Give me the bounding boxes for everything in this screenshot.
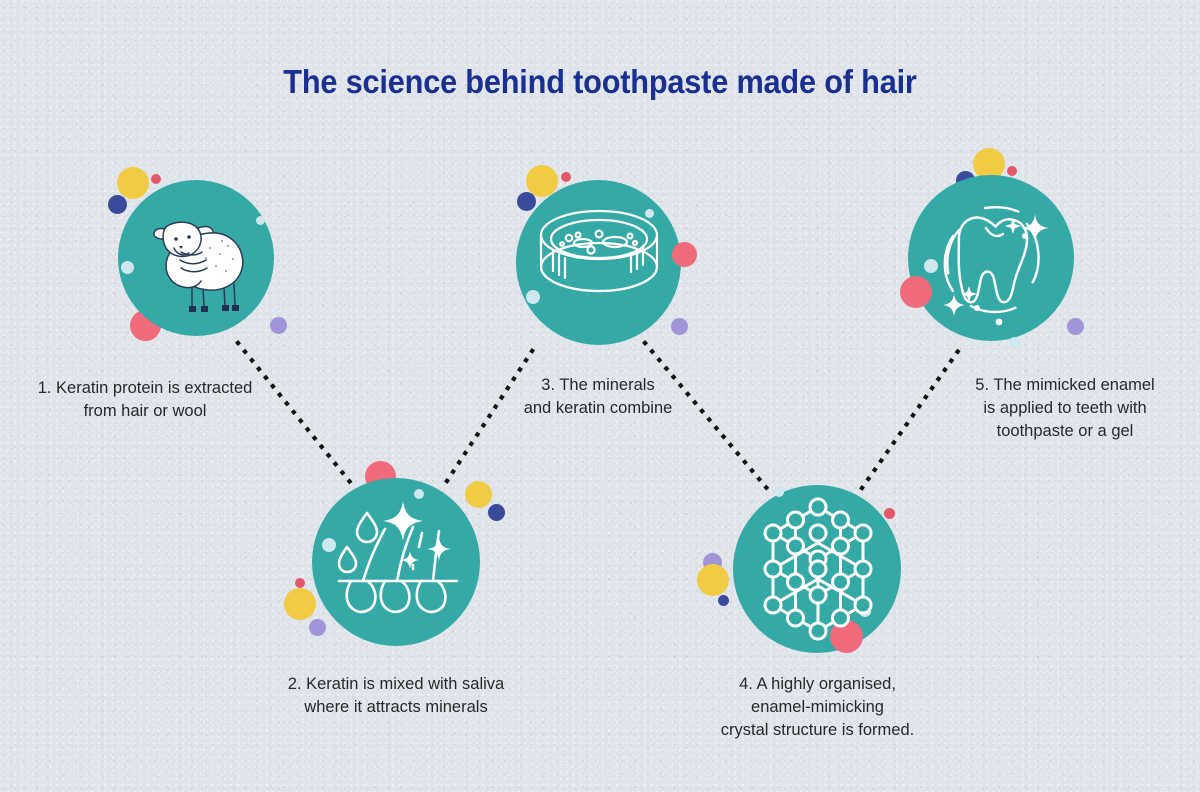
deco-dot-red bbox=[295, 578, 305, 588]
deco-dot-yellow-right bbox=[465, 481, 492, 508]
petri-dish-icon bbox=[531, 205, 667, 321]
step-3-caption: 3. The minerals and keratin combine bbox=[490, 374, 706, 420]
deco-dot-navy bbox=[488, 504, 505, 521]
step-2-caption-line-1: 2. Keratin is mixed with saliva bbox=[262, 673, 530, 696]
deco-dot-red bbox=[151, 174, 161, 184]
step-1-caption-line-1: 1. Keratin protein is extracted bbox=[10, 377, 280, 400]
step-5-caption-line-3: toothpaste or a gel bbox=[940, 420, 1190, 443]
deco-dot-yellow bbox=[117, 167, 149, 199]
step-4-caption: 4. A highly organised, enamel-mimicking … bbox=[690, 673, 945, 742]
step-2-caption-line-2: where it attracts minerals bbox=[262, 696, 530, 719]
infographic-stage: The science behind toothpaste made of ha… bbox=[0, 0, 1200, 792]
step-5-caption-line-2: is applied to teeth with bbox=[940, 397, 1190, 420]
deco-dot-coral bbox=[672, 242, 697, 267]
deco-dot-yellow-left bbox=[284, 588, 316, 620]
hair-follicle-icon bbox=[333, 495, 463, 629]
deco-dot-lightblue-a bbox=[121, 261, 134, 274]
tooth-icon bbox=[923, 190, 1059, 326]
step-4-caption-line-1: 4. A highly organised, bbox=[690, 673, 945, 696]
deco-dot-red bbox=[561, 172, 571, 182]
sheep-icon bbox=[136, 196, 260, 320]
step-2-caption: 2. Keratin is mixed with saliva where it… bbox=[262, 673, 530, 719]
deco-dot-yellow bbox=[697, 564, 729, 596]
step-3-caption-line-2: and keratin combine bbox=[490, 397, 706, 420]
deco-dot-red bbox=[1007, 166, 1017, 176]
deco-dot-navy bbox=[718, 595, 729, 606]
step-5-caption: 5. The mimicked enamel is applied to tee… bbox=[940, 374, 1190, 443]
deco-dot-purple-left bbox=[309, 619, 326, 636]
step-1-caption: 1. Keratin protein is extracted from hai… bbox=[10, 377, 280, 423]
deco-dot-purple bbox=[1067, 318, 1084, 335]
step-5-caption-line-1: 5. The mimicked enamel bbox=[940, 374, 1190, 397]
step-4-caption-line-3: crystal structure is formed. bbox=[690, 719, 945, 742]
step-4-caption-line-2: enamel-mimicking bbox=[690, 696, 945, 719]
deco-dot-purple bbox=[671, 318, 688, 335]
step-3-caption-line-1: 3. The minerals bbox=[490, 374, 706, 397]
deco-dot-purple bbox=[270, 317, 287, 334]
step-1-caption-line-2: from hair or wool bbox=[10, 400, 280, 423]
deco-dot-navy bbox=[108, 195, 127, 214]
deco-dot-lightblue-b bbox=[1009, 337, 1020, 348]
crystal-lattice-icon bbox=[745, 495, 891, 641]
